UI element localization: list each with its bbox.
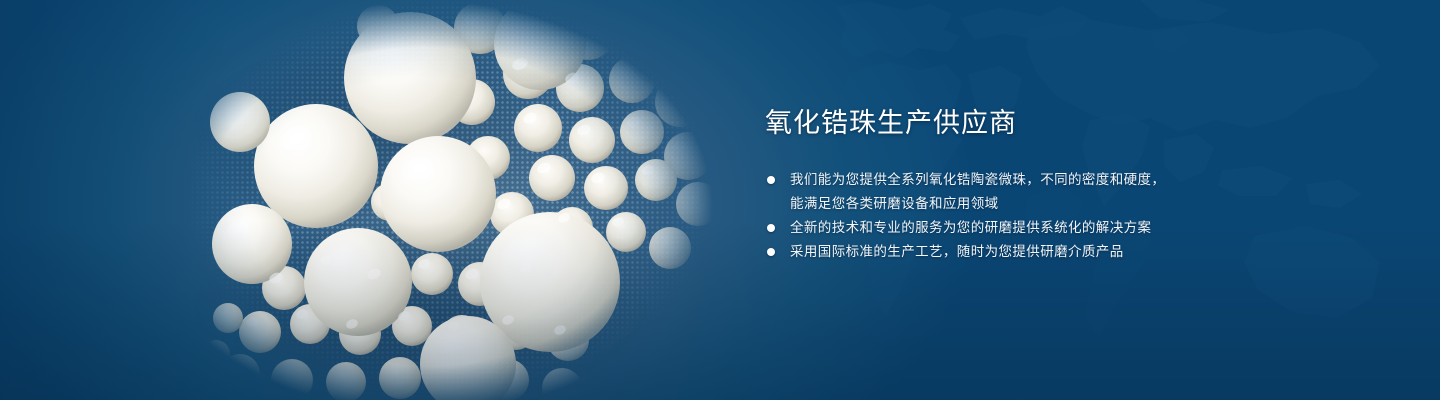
list-item-line-1: 我们能为您提供全系列氧化锆陶瓷微珠，不同的密度和硬度，: [790, 168, 1225, 192]
banner-copy: 氧化锆珠生产供应商 我们能为您提供全系列氧化锆陶瓷微珠，不同的密度和硬度， 能满…: [765, 106, 1225, 264]
list-item: 采用国际标准的生产工艺，随时为您提供研磨介质产品: [765, 240, 1225, 264]
list-item: 我们能为您提供全系列氧化锆陶瓷微珠，不同的密度和硬度， 能满足您各类研磨设备和应…: [765, 168, 1225, 216]
list-item-line-2: 能满足您各类研磨设备和应用领域: [790, 192, 1225, 216]
page-title: 氧化锆珠生产供应商: [765, 106, 1225, 140]
list-item-line-1: 采用国际标准的生产工艺，随时为您提供研磨介质产品: [790, 240, 1225, 264]
bullet-dot-icon: [767, 224, 775, 232]
bullet-dot-icon: [767, 176, 775, 184]
bullet-dot-icon: [767, 248, 775, 256]
hero-banner: 氧化锆珠生产供应商 我们能为您提供全系列氧化锆陶瓷微珠，不同的密度和硬度， 能满…: [0, 0, 1440, 400]
list-item-line-1: 全新的技术和专业的服务为您的研磨提供系统化的解决方案: [790, 216, 1225, 240]
feature-list: 我们能为您提供全系列氧化锆陶瓷微珠，不同的密度和硬度， 能满足您各类研磨设备和应…: [765, 168, 1225, 264]
list-item: 全新的技术和专业的服务为您的研磨提供系统化的解决方案: [765, 216, 1225, 240]
